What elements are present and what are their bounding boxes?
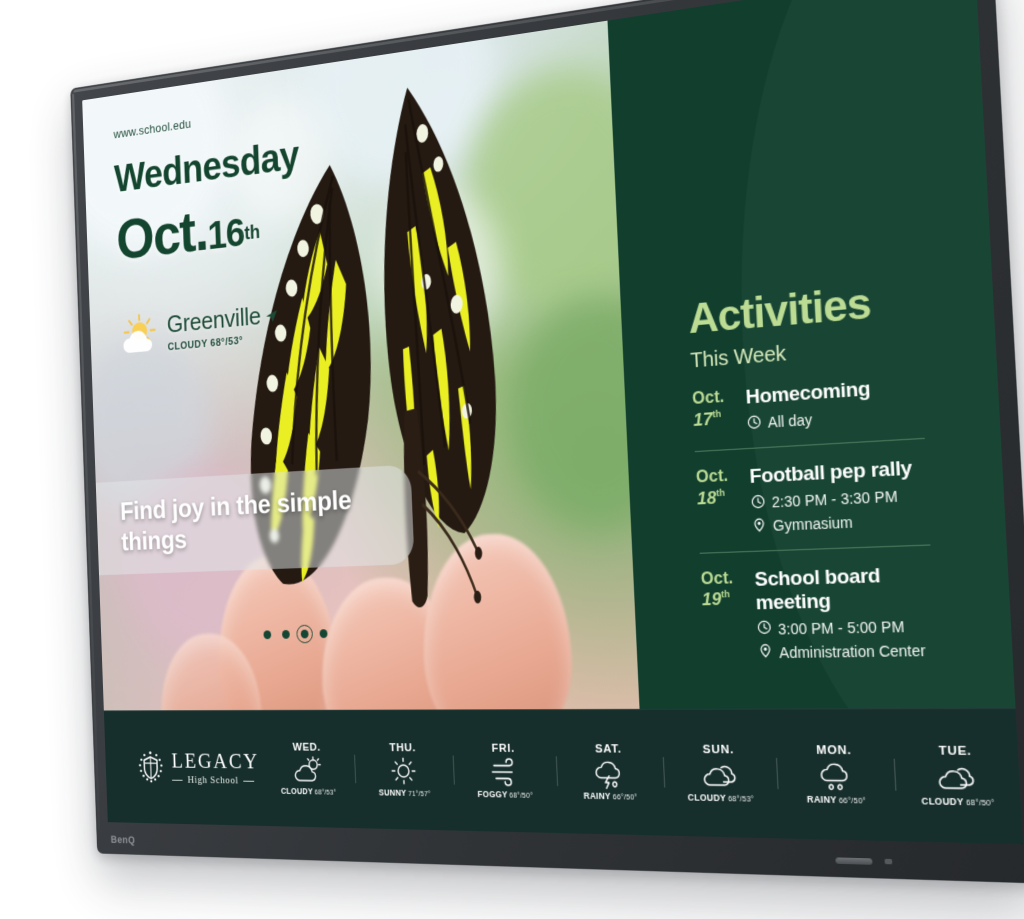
activity-time-row: All day <box>747 407 872 433</box>
forecast-day-tue: TUE. CLOUDY68°/50° <box>893 744 1021 808</box>
forecast-conditions: CLOUDY68°/53° <box>687 792 754 804</box>
clock-icon <box>747 414 762 433</box>
school-url: www.school.edu <box>113 116 191 141</box>
activity-body: Homecoming All day <box>745 378 872 433</box>
screenshot-stage: BenQ <box>0 0 1024 919</box>
screen-upper-area: www.school.edu Wednesday Oct.16th <box>82 0 1015 710</box>
activity-month: Oct. <box>692 388 734 409</box>
activity-day: 18th <box>697 487 739 509</box>
activity-title: School board meeting <box>754 563 934 615</box>
ir-sensor-strip <box>835 857 872 865</box>
activities-content: Activities This Week Oct. 17th Homecomin… <box>688 277 938 677</box>
activity-body: School board meeting 3:00 PM - 5:00 PM A… <box>754 563 936 662</box>
activity-date: Oct. 17th <box>692 388 735 437</box>
location-pin-icon <box>758 644 774 662</box>
location-arrow-icon <box>264 300 278 331</box>
forecast-conditions: RAINY66°/50° <box>583 790 637 801</box>
rainy-icon <box>813 758 858 793</box>
activity-time: 3:00 PM - 5:00 PM <box>778 618 905 638</box>
forecast-conditions: FOGGY68°/50° <box>477 789 533 800</box>
carousel-dot-2[interactable] <box>282 630 290 639</box>
activity-date: Oct. 18th <box>696 467 740 538</box>
activities-title: Activities <box>688 277 919 340</box>
forecast-day-sat: SAT. RAINY66°/50° <box>555 743 665 802</box>
photo-panel: www.school.edu Wednesday Oct.16th <box>82 21 639 711</box>
activity-location: Gymnasium <box>773 514 854 534</box>
activity-date: Oct. 19th <box>701 569 747 663</box>
forecast-day-label: SUN. <box>702 743 734 756</box>
display-monitor: BenQ <box>70 0 1024 884</box>
forecast-day-wed: WED. CLOUDY68°/53° <box>260 742 356 797</box>
activity-body: Football pep rally 2:30 PM - 3:30 PM Gym… <box>749 457 915 536</box>
activity-item[interactable]: Oct. 19th School board meeting 3:00 PM -… <box>700 544 937 677</box>
carousel-dots[interactable] <box>263 629 327 639</box>
carousel-dot-1[interactable] <box>263 630 271 639</box>
clock-icon <box>757 620 773 638</box>
weekly-forecast: WED. CLOUDY68°/53° THU. <box>259 709 1023 845</box>
activity-month: Oct. <box>701 569 743 589</box>
activity-time: All day <box>767 411 812 431</box>
cloudy-icon <box>933 759 980 795</box>
school-name-block: LEGACY High School <box>171 750 260 787</box>
forecast-conditions: RAINY66°/50° <box>807 794 867 806</box>
forecast-day-label: WED. <box>292 742 321 754</box>
foggy-wind-icon <box>485 756 524 789</box>
activity-location-row: Gymnasium <box>752 511 915 536</box>
activity-location-row: Administration Center <box>758 641 936 662</box>
cloudy-sun-icon <box>118 311 161 357</box>
activity-title: Homecoming <box>745 378 870 410</box>
forecast-day-label: TUE. <box>938 745 972 759</box>
city-name: Greenville <box>166 301 261 339</box>
quote-card: Find joy in the simple things <box>96 464 414 575</box>
forecast-day-label: MON. <box>816 744 852 757</box>
school-logo: LEGACY High School <box>104 711 263 826</box>
school-name: LEGACY <box>171 749 259 774</box>
school-tagline: High School <box>172 775 260 787</box>
forecast-day-thu: THU. SUNNY71°/57° <box>354 742 455 799</box>
cloudy-icon <box>698 757 741 791</box>
forecast-day-sun: SUN. CLOUDY68°/53° <box>662 743 778 804</box>
forecast-day-label: THU. <box>389 742 416 754</box>
month-abbr: Oct. <box>115 198 208 272</box>
carousel-dot-4[interactable] <box>319 629 327 638</box>
forecast-conditions: CLOUDY68°/50° <box>921 795 995 807</box>
signage-screen: www.school.edu Wednesday Oct.16th <box>82 0 1023 844</box>
activity-day: 19th <box>702 590 744 611</box>
forecast-day-label: SAT. <box>595 743 622 756</box>
carousel-dot-3-active[interactable] <box>301 629 309 638</box>
power-indicator-led <box>884 859 892 865</box>
forecast-conditions: SUNNY71°/57° <box>379 787 431 798</box>
forecast-day-mon: MON. RAINY66°/50° <box>775 744 896 806</box>
activity-location: Administration Center <box>779 642 926 662</box>
activity-item[interactable]: Oct. 17th Homecoming All day <box>691 357 924 451</box>
activity-time-row: 3:00 PM - 5:00 PM <box>757 617 935 639</box>
activities-panel: Activities This Week Oct. 17th Homecomin… <box>607 0 1015 709</box>
storm-icon <box>589 756 630 790</box>
benq-brand-logo: BenQ <box>111 834 136 846</box>
bokeh-blob <box>504 288 640 533</box>
decorative-arc <box>721 0 1016 709</box>
activity-month: Oct. <box>696 467 738 488</box>
footer-bar: LEGACY High School WED. <box>104 708 1023 845</box>
laurel-shield-crest-icon <box>137 749 165 785</box>
cloudy-sun-icon <box>290 754 326 785</box>
clock-icon <box>751 494 766 513</box>
activity-title: Football pep rally <box>749 457 912 489</box>
forecast-day-label: FRI. <box>491 743 515 755</box>
activities-subtitle: This Week <box>690 332 920 374</box>
activity-item[interactable]: Oct. 18th Football pep rally 2:30 PM - 3… <box>695 438 930 553</box>
activity-time-row: 2:30 PM - 3:30 PM <box>751 487 914 513</box>
quote-text: Find joy in the simple things <box>120 481 396 557</box>
sunny-icon <box>385 755 422 787</box>
location-pin-icon <box>752 517 768 536</box>
forecast-conditions: CLOUDY68°/53° <box>281 786 337 797</box>
day-suffix: th <box>244 222 261 244</box>
activity-time: 2:30 PM - 3:30 PM <box>771 488 898 511</box>
activity-day: 17th <box>693 408 735 430</box>
day-number: 16 <box>207 210 245 258</box>
forecast-day-fri: FRI. FOGGY68°/50° <box>452 742 557 800</box>
